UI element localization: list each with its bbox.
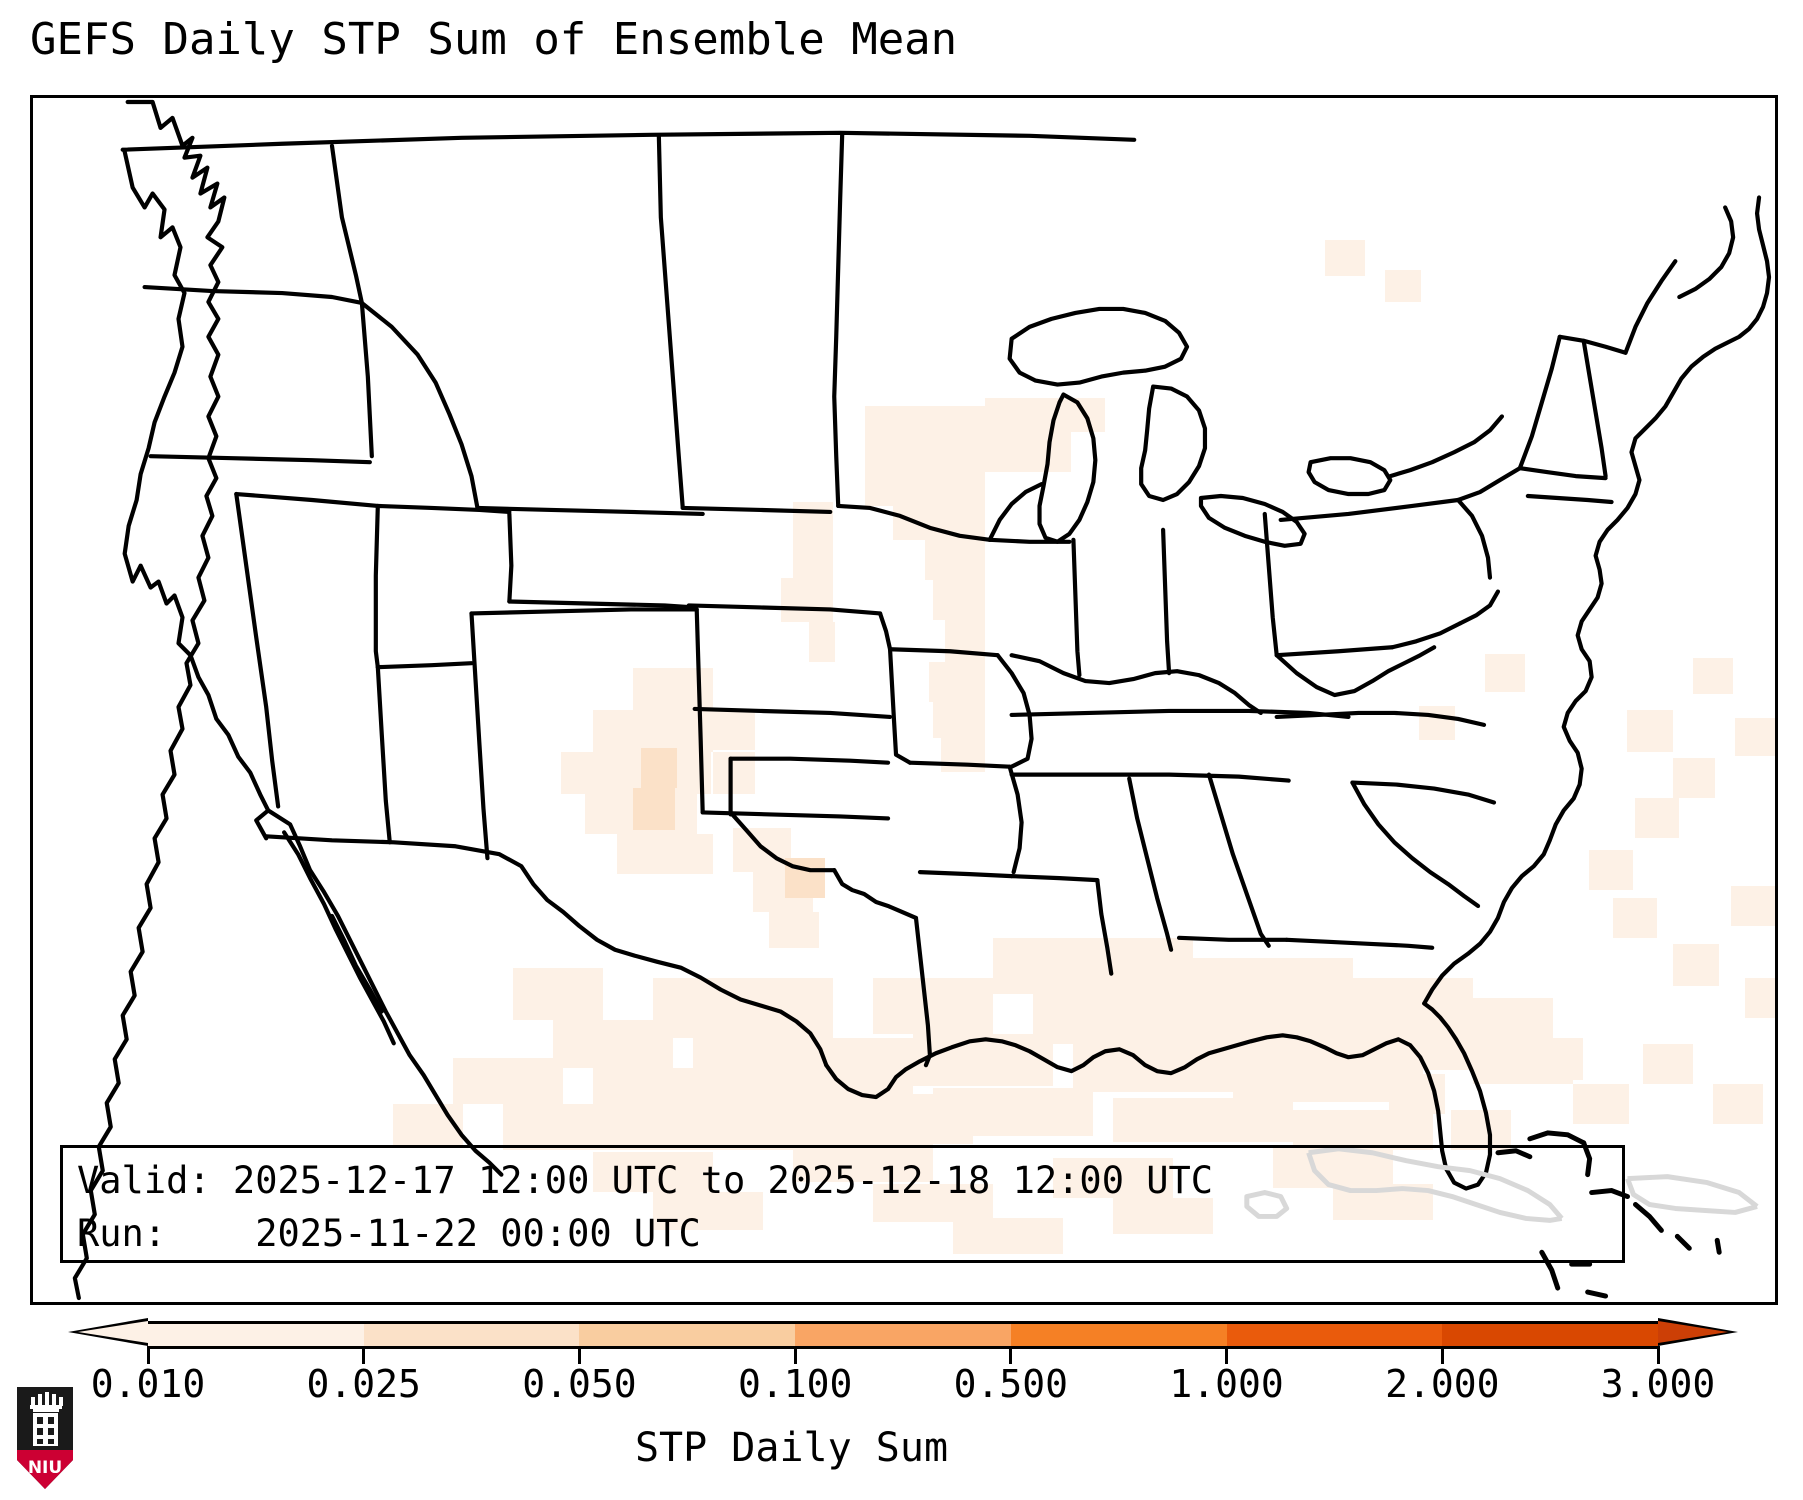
- colorbar-under-fill: [78, 1321, 148, 1343]
- colorbar-gradient: [148, 1321, 1658, 1349]
- colorbar-band-6: [1442, 1324, 1658, 1346]
- colorbar-band-2: [579, 1324, 795, 1346]
- valid-time-line: Valid: 2025-12-17 12:00 UTC to 2025-12-1…: [77, 1154, 1608, 1207]
- map-geography: [33, 98, 1775, 1302]
- colorbar-tick-label-0: 0.010: [91, 1362, 205, 1406]
- colorbar-over-fill: [1658, 1321, 1728, 1343]
- info-box: Valid: 2025-12-17 12:00 UTC to 2025-12-1…: [60, 1145, 1625, 1263]
- colorbar-band-1: [364, 1324, 580, 1346]
- colorbar-tick-label-2: 0.050: [522, 1362, 636, 1406]
- colorbar-axis-label: STP Daily Sum: [0, 1425, 1803, 1471]
- niu-logo: NIU: [16, 1386, 74, 1490]
- colorbar-axis-label-text: STP Daily Sum: [635, 1425, 948, 1471]
- page-title: GEFS Daily STP Sum of Ensemble Mean: [30, 14, 957, 66]
- colorbar-tick-labels: 0.0100.0250.0500.1000.5001.0002.0003.000: [0, 1362, 1803, 1408]
- niu-logo-text: NIU: [28, 1458, 62, 1478]
- colorbar-band-0: [148, 1324, 364, 1346]
- colorbar-band-3: [795, 1324, 1011, 1346]
- run-time-line: Run: 2025-11-22 00:00 UTC: [77, 1207, 1608, 1260]
- colorbar: 0.0100.0250.0500.1000.5001.0002.0003.000: [0, 1300, 1803, 1390]
- colorbar-tick-label-4: 0.500: [954, 1362, 1068, 1406]
- colorbar-tick-label-1: 0.025: [307, 1362, 421, 1406]
- map-frame: [30, 95, 1778, 1305]
- colorbar-tick-label-3: 0.100: [738, 1362, 852, 1406]
- colorbar-tick-label-6: 2.000: [1385, 1362, 1499, 1406]
- colorbar-tick-label-7: 3.000: [1601, 1362, 1715, 1406]
- colorbar-band-4: [1011, 1324, 1227, 1346]
- colorbar-tick-label-5: 1.000: [1169, 1362, 1283, 1406]
- colorbar-band-5: [1227, 1324, 1443, 1346]
